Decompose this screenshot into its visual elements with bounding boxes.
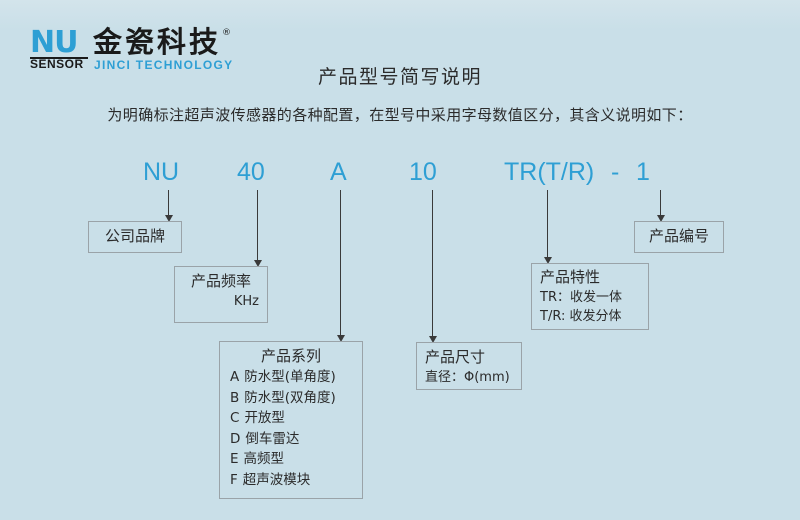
series-key-d: D — [230, 431, 240, 447]
series-row-f: F超声波模块 — [230, 470, 352, 491]
series-row-d: D倒车雷达 — [230, 429, 352, 450]
series-row-a: A防水型(单角度) — [230, 367, 352, 388]
model-code-part-4: TR(T/R) — [504, 157, 594, 187]
callout-box-serial: 产品编号 — [634, 221, 724, 253]
series-row-c: C开放型 — [230, 408, 352, 429]
model-code-part-1: 40 — [237, 157, 265, 187]
callout-feature-t-r: T/R: 收发分体 — [540, 307, 640, 326]
model-code-part-6: 1 — [636, 157, 650, 187]
callout-title-feature: 产品特性 — [540, 267, 640, 288]
callout-title-company-brand: 公司品牌 — [89, 226, 181, 247]
model-code-part-2: A — [330, 157, 347, 187]
connector-feature-line — [547, 190, 548, 257]
connector-series-line — [340, 190, 341, 335]
page-subtitle: 为明确标注超声波传感器的各种配置，在型号中采用字母数值区分，其含义说明如下： — [0, 104, 800, 125]
callout-title-serial: 产品编号 — [635, 226, 723, 247]
callout-title-size: 产品尺寸 — [425, 347, 513, 368]
callout-box-company-brand: 公司品牌 — [88, 221, 182, 253]
series-label-b: 防水型(双角度) — [244, 390, 336, 406]
callout-box-series: 产品系列 A防水型(单角度)B防水型(双角度)C开放型D倒车雷达E高频型F超声波… — [219, 341, 363, 499]
connector-serial-line — [660, 190, 661, 215]
diagram-page: NU SENSOR 金瓷科技 ® JINCI TECHNOLOGY 产品型号简写… — [0, 0, 800, 520]
connector-brand-line — [168, 190, 169, 215]
logo-chinese-name: 金瓷科技 — [93, 26, 221, 58]
model-code-part-0: NU — [143, 157, 179, 187]
callout-title-frequency: 产品频率 — [183, 271, 259, 292]
series-row-b: B防水型(双角度) — [230, 388, 352, 409]
callout-box-size: 产品尺寸 直径：Φ(mm) — [416, 342, 522, 390]
series-key-b: B — [230, 390, 239, 406]
callout-detail-size: 直径：Φ(mm) — [425, 368, 513, 387]
series-key-e: E — [230, 451, 239, 467]
callout-box-frequency: 产品频率 KHz — [174, 266, 268, 323]
series-row-list: A防水型(单角度)B防水型(双角度)C开放型D倒车雷达E高频型F超声波模块 — [230, 367, 352, 490]
connector-size-line — [432, 190, 433, 336]
series-key-f: F — [230, 472, 238, 488]
series-label-c: 开放型 — [244, 410, 285, 426]
logo-nu-mark: NU — [30, 28, 77, 58]
callout-box-feature: 产品特性 TR：收发一体 T/R: 收发分体 — [531, 263, 649, 330]
series-label-f: 超声波模块 — [243, 472, 311, 488]
series-key-a: A — [230, 369, 239, 385]
series-label-d: 倒车雷达 — [245, 431, 299, 447]
series-key-c: C — [230, 410, 239, 426]
registered-trademark-icon: ® — [222, 28, 231, 38]
series-row-e: E高频型 — [230, 449, 352, 470]
page-title: 产品型号简写说明 — [0, 62, 800, 89]
callout-feature-tr: TR：收发一体 — [540, 288, 640, 307]
callout-title-series: 产品系列 — [230, 346, 352, 367]
model-code-part-3: 10 — [409, 157, 437, 187]
connector-frequency-line — [257, 190, 258, 260]
series-label-a: 防水型(单角度) — [244, 369, 336, 385]
series-label-e: 高频型 — [244, 451, 285, 467]
callout-unit-frequency: KHz — [183, 292, 259, 311]
model-code-part-5: - — [611, 157, 619, 187]
